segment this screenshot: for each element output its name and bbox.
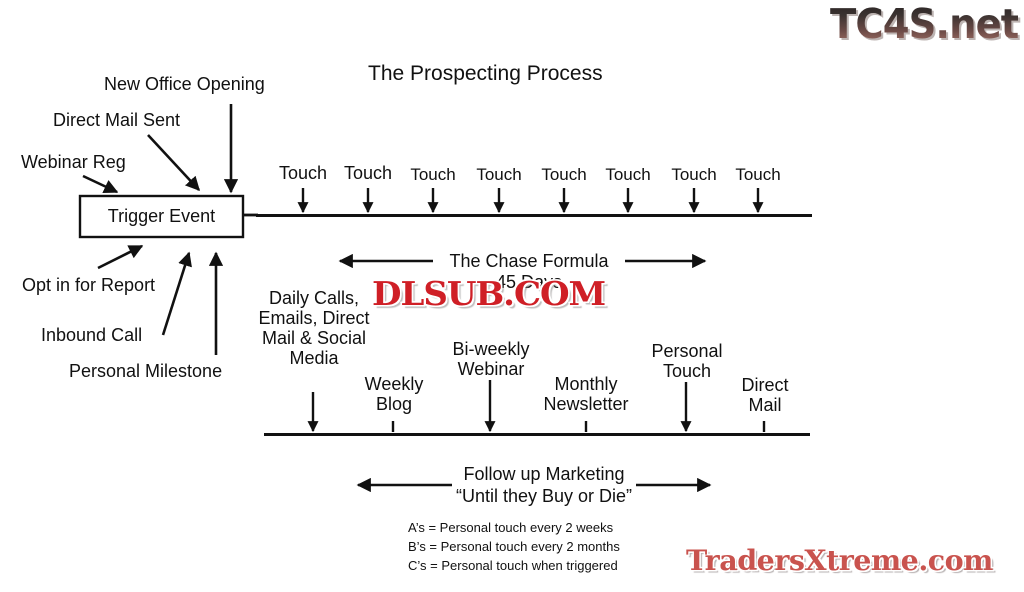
label-direct-mail-sent: Direct Mail Sent bbox=[53, 110, 180, 130]
trigger-event-label: Trigger Event bbox=[80, 206, 243, 226]
arrow-webinar-reg bbox=[83, 176, 117, 192]
legend-line-a: A’s = Personal touch every 2 weeks bbox=[408, 521, 613, 536]
label-inbound-call: Inbound Call bbox=[41, 325, 142, 345]
followup-marketing-sublabel: “Until they Buy or Die” bbox=[444, 486, 644, 506]
touch-label: Touch bbox=[333, 163, 403, 183]
touch-label: Touch bbox=[531, 165, 597, 184]
followup-label-direct-mail: Direct Mail bbox=[726, 375, 804, 415]
label-new-office-opening: New Office Opening bbox=[104, 74, 265, 94]
arrow-direct-mail-sent bbox=[148, 135, 199, 190]
label-personal-milestone: Personal Milestone bbox=[69, 361, 222, 381]
arrow-inbound-call bbox=[163, 253, 189, 335]
page-title: The Prospecting Process bbox=[368, 62, 603, 86]
label-opt-in-for-report: Opt in for Report bbox=[22, 275, 155, 295]
touch-label: Touch bbox=[268, 163, 338, 183]
followup-marketing-label: Follow up Marketing bbox=[444, 464, 644, 484]
touch-arrows-group bbox=[303, 188, 758, 212]
followup-label-monthly-newsletter: Monthly Newsletter bbox=[524, 374, 648, 414]
followup-ticks-group bbox=[393, 421, 764, 432]
arrow-opt-in-for-report bbox=[98, 246, 142, 268]
dlsub-watermark: DLSUB.COM bbox=[372, 276, 605, 313]
followup-label-daily-calls: Daily Calls, Emails, Direct Mail & Socia… bbox=[248, 288, 380, 369]
label-webinar-reg: Webinar Reg bbox=[21, 152, 126, 172]
touch-label: Touch bbox=[595, 165, 661, 184]
prospecting-process-diagram: TC4S.net TC4S.net TradersXtreme.com The … bbox=[0, 0, 1024, 592]
touch-label: Touch bbox=[725, 165, 791, 184]
followup-label-personal-touch: Personal Touch bbox=[638, 341, 736, 381]
touch-label: Touch bbox=[400, 165, 466, 184]
touch-label: Touch bbox=[466, 165, 532, 184]
legend-line-c: C’s = Personal touch when triggered bbox=[408, 559, 618, 574]
followup-label-weekly-blog: Weekly Blog bbox=[352, 374, 436, 414]
legend-line-b: B’s = Personal touch every 2 months bbox=[408, 540, 620, 555]
tc4s-logo: TC4S.net bbox=[830, 2, 1018, 48]
touch-label: Touch bbox=[661, 165, 727, 184]
tradersxtreme-logo: TradersXtreme.com bbox=[686, 545, 993, 576]
chase-formula-label: The Chase Formula bbox=[440, 251, 618, 271]
